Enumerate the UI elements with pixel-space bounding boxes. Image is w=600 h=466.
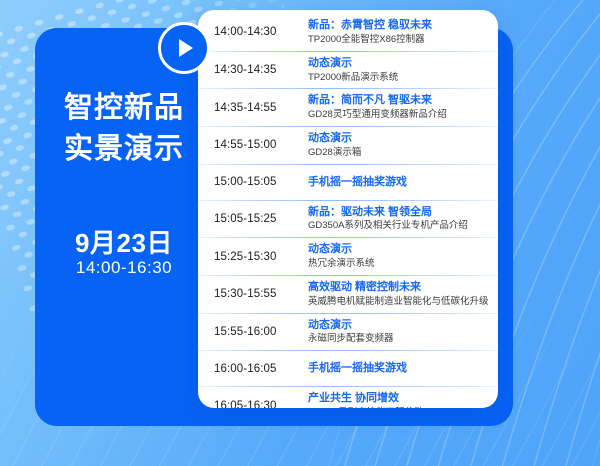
row-body: 手机摇一摇抽奖游戏	[300, 359, 484, 379]
row-body: 动态演示GD28演示箱	[300, 131, 484, 160]
play-icon	[179, 39, 193, 57]
row-body: 手机摇一摇抽奖游戏	[300, 172, 484, 192]
schedule-row-list: 14:00-14:30新品：赤霄智控 稳驭未来TP2000全能智控X86控制器1…	[198, 10, 498, 408]
schedule-row[interactable]: 14:30-14:35动态演示TP2000新品演示系统	[198, 52, 498, 90]
poster-stage: 智控新品 实景演示 9月23日 14:00-16:30 14:00-14:30新…	[0, 0, 600, 466]
row-title: 动态演示	[308, 56, 484, 71]
row-time: 15:00-15:05	[214, 176, 300, 188]
row-subtitle: GD880系列高性能工程传动	[308, 407, 484, 408]
row-title: 高效驱动 精密控制未来	[308, 280, 489, 295]
row-title: 手机摇一摇抽奖游戏	[308, 361, 407, 376]
row-subtitle: GD28演示箱	[308, 147, 484, 160]
row-title: 动态演示	[308, 318, 484, 333]
row-title: 新品：驱动未来 智领全局	[308, 205, 484, 220]
row-body: 动态演示热冗余演示系统	[300, 242, 484, 271]
panel-time-range: 14:00-16:30	[35, 258, 213, 278]
row-title: 新品：赤霄智控 稳驭未来	[308, 18, 484, 33]
row-time: 15:25-15:30	[214, 251, 300, 263]
schedule-card: 14:00-14:30新品：赤霄智控 稳驭未来TP2000全能智控X86控制器1…	[198, 10, 498, 408]
row-title: 动态演示	[308, 242, 484, 257]
schedule-row[interactable]: 14:55-15:00动态演示GD28演示箱	[198, 127, 498, 165]
row-title: 产业共生 协同增效	[308, 391, 484, 406]
row-title: 新品：简而不凡 智驱未来	[308, 93, 484, 108]
row-body: 新品：驱动未来 智领全局GD350A系列及相关行业专机产品介绍	[300, 205, 484, 234]
row-body: 产业共生 协同增效GD880系列高性能工程传动	[300, 391, 484, 408]
schedule-row[interactable]: 15:25-15:30动态演示热冗余演示系统	[198, 238, 498, 276]
row-time: 14:30-14:35	[214, 64, 300, 76]
row-subtitle: TP2000新品演示系统	[308, 72, 484, 85]
schedule-row[interactable]: 15:55-16:00动态演示永磁同步配套变频器	[198, 314, 498, 352]
row-time: 16:00-16:05	[214, 363, 300, 375]
row-subtitle: TP2000全能智控X86控制器	[308, 34, 484, 47]
panel-title-line1: 智控新品	[35, 88, 213, 129]
schedule-row[interactable]: 14:35-14:55新品：简而不凡 智驱未来GD28灵巧型通用变频器新品介绍	[198, 89, 498, 127]
left-info-panel: 智控新品 实景演示 9月23日 14:00-16:30	[35, 28, 213, 426]
schedule-row[interactable]: 15:05-15:25新品：驱动未来 智领全局GD350A系列及相关行业专机产品…	[198, 201, 498, 239]
schedule-row[interactable]: 14:00-14:30新品：赤霄智控 稳驭未来TP2000全能智控X86控制器	[198, 14, 498, 52]
row-subtitle: 英威腾电机赋能制造业智能化与低碳化升级	[308, 296, 489, 309]
row-subtitle: 永磁同步配套变频器	[308, 333, 484, 346]
panel-title-line2: 实景演示	[35, 129, 213, 170]
schedule-row[interactable]: 16:00-16:05手机摇一摇抽奖游戏	[198, 351, 498, 387]
schedule-row[interactable]: 15:00-15:05手机摇一摇抽奖游戏	[198, 165, 498, 201]
row-time: 15:05-15:25	[214, 213, 300, 225]
row-subtitle: GD350A系列及相关行业专机产品介绍	[308, 220, 484, 233]
row-body: 新品：赤霄智控 稳驭未来TP2000全能智控X86控制器	[300, 18, 484, 47]
row-body: 高效驱动 精密控制未来英威腾电机赋能制造业智能化与低碳化升级	[300, 280, 489, 309]
play-button[interactable]	[158, 22, 210, 74]
row-body: 动态演示TP2000新品演示系统	[300, 56, 484, 85]
row-subtitle: GD28灵巧型通用变频器新品介绍	[308, 109, 484, 122]
schedule-row[interactable]: 15:30-15:55高效驱动 精密控制未来英威腾电机赋能制造业智能化与低碳化升…	[198, 276, 498, 314]
row-time: 15:55-16:00	[214, 326, 300, 338]
panel-title: 智控新品 实景演示	[35, 88, 213, 170]
row-time: 14:35-14:55	[214, 102, 300, 114]
row-title: 手机摇一摇抽奖游戏	[308, 175, 407, 190]
row-subtitle: 热冗余演示系统	[308, 258, 484, 271]
row-time: 16:05-16:30	[214, 400, 300, 408]
schedule-row[interactable]: 16:05-16:30产业共生 协同增效GD880系列高性能工程传动	[198, 387, 498, 408]
row-time: 14:55-15:00	[214, 139, 300, 151]
row-title: 动态演示	[308, 131, 484, 146]
panel-date: 9月23日	[35, 223, 213, 260]
row-body: 动态演示永磁同步配套变频器	[300, 318, 484, 347]
row-time: 15:30-15:55	[214, 288, 300, 300]
row-body: 新品：简而不凡 智驱未来GD28灵巧型通用变频器新品介绍	[300, 93, 484, 122]
row-time: 14:00-14:30	[214, 26, 300, 38]
